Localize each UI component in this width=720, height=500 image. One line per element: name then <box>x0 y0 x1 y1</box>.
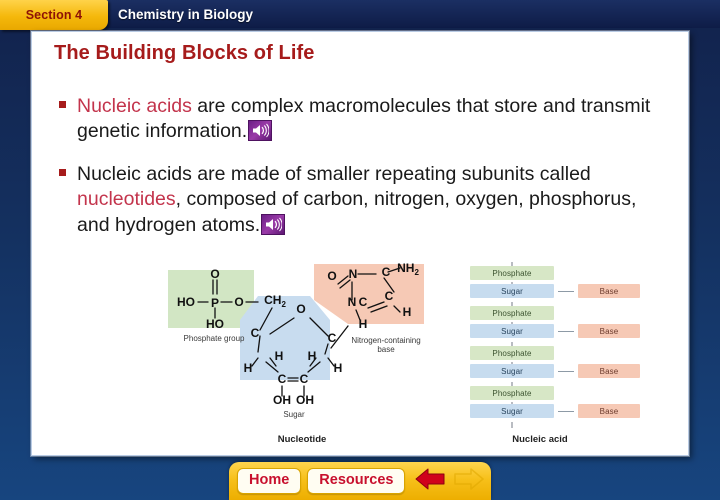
nucleic-acid-diagram: Phosphate Sugar Base Phosphate Sugar Bas… <box>450 262 630 457</box>
nitrogen-base-label: Nitrogen-containing base <box>344 336 428 354</box>
bullet-marker-icon <box>59 101 66 108</box>
nucleotide-caption: Nucleotide <box>242 434 362 445</box>
bullet-item-2: Nucleic acids are made of smaller repeat… <box>59 162 671 238</box>
atom-O-right: O <box>234 295 243 309</box>
chain-sugar-4: Sugar <box>470 404 554 418</box>
atom-O-base: O <box>327 269 336 283</box>
atom-C2: C <box>328 331 337 345</box>
atom-OH2: OH <box>296 393 314 407</box>
content-panel: The Building Blocks of Life Nucleic acid… <box>31 31 689 456</box>
atom-HO-left: HO <box>177 295 195 309</box>
arrow-left-icon[interactable] <box>413 466 447 497</box>
slide-root: Section 4 Chemistry in Biology The Build… <box>0 0 720 500</box>
chain-phosphate-2: Phosphate <box>470 306 554 320</box>
page-title: The Building Blocks of Life <box>54 42 314 65</box>
atom-O-top: O <box>210 267 219 281</box>
atom-H6: H <box>359 317 368 331</box>
atom-H1: H <box>275 349 284 363</box>
atom-C6: C <box>385 289 394 303</box>
nucleic-acid-caption: Nucleic acid <box>450 434 630 445</box>
atom-ring-O: O <box>296 302 305 316</box>
atom-C5: C <box>382 265 391 279</box>
header-bar: Section 4 Chemistry in Biology <box>0 0 720 28</box>
section-tab[interactable]: Section 4 <box>0 0 108 30</box>
bullet-1-text: Nucleic acids are complex macromolecules… <box>77 94 671 145</box>
atom-H3: H <box>244 361 253 375</box>
sugar-label: Sugar <box>252 410 336 419</box>
bullet-1-lead: Nucleic acids <box>77 95 192 117</box>
chain-sugar-3: Sugar <box>470 364 554 378</box>
home-button[interactable]: Home <box>237 468 301 494</box>
atom-OH1: OH <box>273 393 291 407</box>
chain-sugar-2: Sugar <box>470 324 554 338</box>
chain-base-1: Base <box>578 284 640 298</box>
atom-C3: C <box>278 372 287 386</box>
speaker-icon[interactable] <box>248 120 272 141</box>
atom-H5: H <box>403 305 412 319</box>
phosphate-group-label: Phosphate group <box>166 334 262 343</box>
atom-HO-bottom: HO <box>206 317 224 331</box>
atom-P: P <box>211 296 219 310</box>
chain-base-2: Base <box>578 324 640 338</box>
chain-link-2 <box>558 331 574 332</box>
chain-base-3: Base <box>578 364 640 378</box>
bullet-item-1: Nucleic acids are complex macromolecules… <box>59 94 671 145</box>
atom-H2: H <box>308 349 317 363</box>
header-title: Chemistry in Biology <box>118 0 253 28</box>
bullet-2-highlight: nucleotides <box>77 188 176 210</box>
arrow-right-icon <box>452 466 486 497</box>
atom-C4: C <box>300 372 309 386</box>
atom-N2: N <box>348 295 357 309</box>
chain-sugar-1: Sugar <box>470 284 554 298</box>
atom-H4: H <box>334 361 343 375</box>
atom-N1: N <box>349 267 358 281</box>
chain-link-4 <box>558 411 574 412</box>
atom-C7: C <box>359 295 368 309</box>
section-tab-label: Section 4 <box>26 8 82 22</box>
resources-button[interactable]: Resources <box>307 468 405 494</box>
speaker-icon[interactable] <box>261 214 285 235</box>
footer-nav: Home Resources <box>229 462 491 500</box>
bullet-2-text: Nucleic acids are made of smaller repeat… <box>77 162 671 238</box>
chain-link-3 <box>558 371 574 372</box>
chain-base-4: Base <box>578 404 640 418</box>
chain-phosphate-1: Phosphate <box>470 266 554 280</box>
chain-link-1 <box>558 291 574 292</box>
chain-phosphate-3: Phosphate <box>470 346 554 360</box>
atom-CH2: CH2 <box>264 293 286 309</box>
nucleotide-diagram: HO P O O HO CH2 O C C C C H H H <box>162 262 432 457</box>
chain-phosphate-4: Phosphate <box>470 386 554 400</box>
bullet-marker-icon <box>59 169 66 176</box>
bullet-2-pre: Nucleic acids are made of smaller repeat… <box>77 163 591 185</box>
figure-container: HO P O O HO CH2 O C C C C H H H <box>32 262 690 457</box>
